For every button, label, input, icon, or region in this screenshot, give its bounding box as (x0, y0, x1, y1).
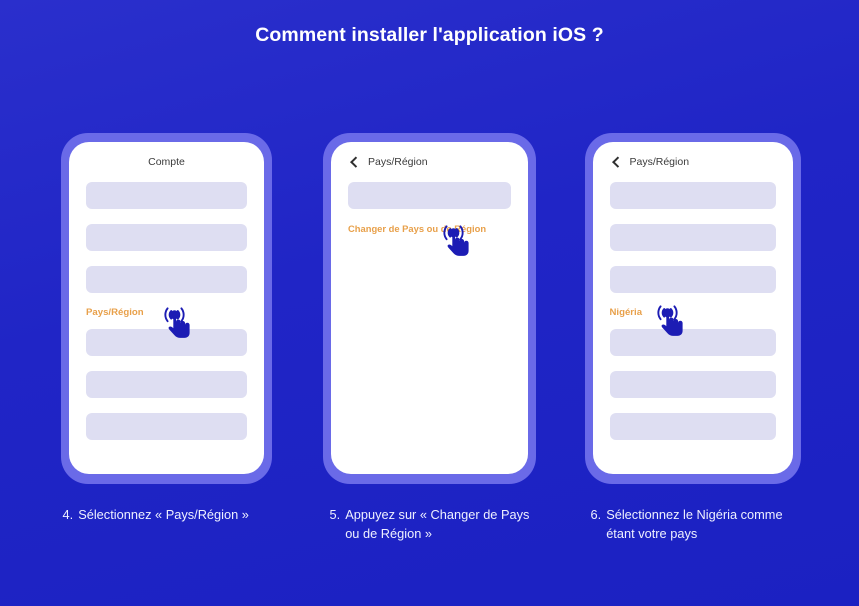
step-caption-text: Sélectionnez le Nigéria comme étant votr… (606, 506, 800, 544)
screen-header-5: Pays/Région (348, 142, 511, 182)
list-item[interactable] (610, 224, 776, 251)
screen-header-4: Compte (86, 142, 247, 182)
step-caption-5: 5. Appuyez sur « Changer de Pays ou de R… (322, 506, 538, 544)
step-caption-text: Appuyez sur « Changer de Pays ou de Régi… (345, 506, 537, 544)
phone-mockup-5: Pays/Région Changer de Pays ou de Région (323, 133, 536, 484)
screen-title: Pays/Région (630, 156, 690, 168)
step-caption-text: Sélectionnez « Pays/Région » (78, 506, 249, 525)
step-number: 4. (63, 506, 74, 525)
list-item[interactable] (86, 329, 247, 356)
step-number: 5. (330, 506, 341, 544)
phone-screen-4: Compte Pays/Région (69, 142, 264, 474)
list-item[interactable] (86, 266, 247, 293)
step-5: Pays/Région Changer de Pays ou de Région (322, 133, 538, 544)
list-item[interactable] (610, 266, 776, 293)
list-item[interactable] (348, 182, 511, 209)
list-item[interactable] (610, 413, 776, 440)
highlighted-option-label[interactable]: Pays/Région (86, 308, 247, 318)
page-title: Comment installer l'application iOS ? (0, 24, 859, 47)
list-item[interactable] (610, 329, 776, 356)
list-item[interactable] (86, 224, 247, 251)
screen-title: Pays/Région (368, 156, 428, 168)
screen-title: Compte (148, 156, 185, 168)
phone-screen-5: Pays/Région Changer de Pays ou de Région (331, 142, 528, 474)
step-4: Compte Pays/Région (59, 133, 275, 544)
steps-row: Compte Pays/Région (0, 133, 859, 544)
chevron-left-icon[interactable] (350, 157, 359, 168)
phone-mockup-4: Compte Pays/Région (61, 133, 272, 484)
settings-rows-4: Pays/Région (86, 182, 247, 440)
list-item[interactable] (86, 182, 247, 209)
highlighted-option-label[interactable]: Changer de Pays ou de Région (348, 224, 511, 233)
list-item[interactable] (610, 182, 776, 209)
settings-rows-6: Nigéria (610, 182, 776, 440)
step-caption-6: 6. Sélectionnez le Nigéria comme étant v… (585, 506, 801, 544)
step-6: Pays/Région Nigéria (585, 133, 801, 544)
phone-mockup-6: Pays/Région Nigéria (585, 133, 801, 484)
step-number: 6. (591, 506, 602, 544)
chevron-left-icon[interactable] (612, 157, 621, 168)
list-item[interactable] (86, 413, 247, 440)
screen-header-6: Pays/Région (610, 142, 776, 182)
list-item[interactable] (610, 371, 776, 398)
step-caption-4: 4. Sélectionnez « Pays/Région » (59, 506, 249, 525)
settings-rows-5: Changer de Pays ou de Région (348, 182, 511, 233)
phone-screen-6: Pays/Région Nigéria (593, 142, 793, 474)
highlighted-option-label[interactable]: Nigéria (610, 308, 776, 318)
list-item[interactable] (86, 371, 247, 398)
